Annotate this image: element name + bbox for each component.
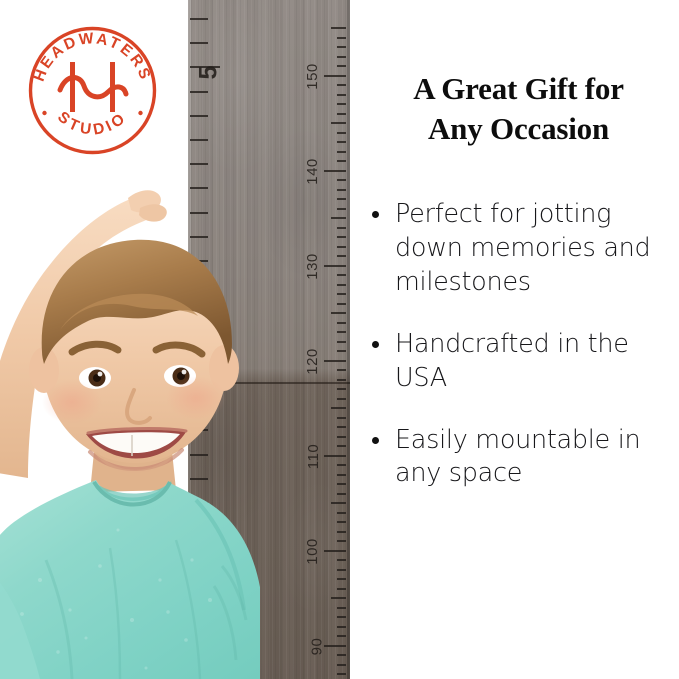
metric-minor-tick	[331, 122, 346, 124]
scale-label-ft-4: 4	[194, 356, 223, 370]
metric-major-tick	[324, 550, 346, 552]
ruler-right-edge	[347, 0, 350, 679]
imperial-inch-tick	[190, 405, 208, 407]
metric-minor-tick	[337, 284, 346, 286]
imperial-inch-tick	[190, 526, 208, 528]
metric-minor-tick	[337, 198, 346, 200]
metric-minor-tick	[337, 103, 346, 105]
metric-minor-tick	[337, 483, 346, 485]
feature-bullet-text: Easily mountable in any space	[395, 425, 640, 489]
metric-minor-tick	[337, 673, 346, 675]
chin-shadow	[96, 450, 176, 471]
metric-minor-tick	[337, 160, 346, 162]
metric-minor-tick	[337, 388, 346, 390]
imperial-inch-tick	[190, 163, 208, 165]
metric-minor-tick	[331, 502, 346, 504]
feature-bullet-item: Perfect for jotting down memories and mi…	[368, 198, 674, 300]
wood-grain-texture	[188, 0, 350, 679]
plank-seam-line	[188, 382, 350, 384]
metric-minor-tick	[331, 27, 346, 29]
imperial-inch-tick	[190, 18, 208, 20]
feature-bullet-item: Handcrafted in the USA	[368, 328, 674, 396]
metric-major-tick	[324, 360, 346, 362]
metric-minor-tick	[331, 217, 346, 219]
metric-minor-tick	[337, 274, 346, 276]
hand-knuckles	[139, 204, 167, 221]
metric-minor-tick	[337, 189, 346, 191]
imperial-inch-tick	[190, 115, 208, 117]
feature-bullet-list: Perfect for jotting down memories and mi…	[368, 198, 674, 519]
raised-arm	[0, 195, 158, 478]
metric-minor-tick	[337, 379, 346, 381]
nose	[127, 390, 150, 423]
metric-minor-tick	[337, 369, 346, 371]
metric-minor-tick	[337, 113, 346, 115]
imperial-inch-tick	[190, 575, 208, 577]
metric-major-tick	[324, 455, 346, 457]
metric-minor-tick	[337, 474, 346, 476]
scale-label-cm-120: 120	[304, 348, 321, 375]
headline: A Great Gift for Any Occasion	[366, 69, 671, 150]
metric-minor-tick	[337, 236, 346, 238]
metric-minor-tick	[331, 597, 346, 599]
bullet-dot-icon	[372, 211, 379, 218]
logo-dot-right	[138, 111, 142, 115]
scale-label-cm-90: 90	[309, 638, 326, 656]
metric-minor-tick	[337, 635, 346, 637]
metric-minor-tick	[337, 464, 346, 466]
metric-minor-tick	[337, 426, 346, 428]
headline-line-1: A Great Gift for	[413, 71, 624, 106]
feature-bullet-text: Perfect for jotting down memories and mi…	[395, 199, 650, 297]
mouth	[86, 430, 186, 459]
metric-minor-tick	[337, 303, 346, 305]
metric-minor-tick	[337, 65, 346, 67]
growth-chart-ruler: 150 140 130 120 110 100 90 5 4	[188, 0, 350, 679]
metric-minor-tick	[337, 607, 346, 609]
imperial-inch-tick	[190, 550, 208, 552]
feature-bullet-item: Easily mountable in any space	[368, 424, 674, 492]
metric-minor-tick	[337, 559, 346, 561]
metric-minor-tick	[337, 331, 346, 333]
metric-minor-tick	[337, 398, 346, 400]
imperial-inch-tick	[190, 284, 208, 286]
metric-minor-tick	[337, 132, 346, 134]
scale-label-cm-140: 140	[304, 158, 321, 185]
imperial-inch-tick	[190, 42, 208, 44]
metric-minor-tick	[337, 246, 346, 248]
imperial-inch-tick	[190, 478, 208, 480]
metric-minor-tick	[337, 293, 346, 295]
pupil-right	[177, 372, 185, 380]
sleeve-left	[0, 556, 40, 679]
eye-glint-right	[182, 370, 187, 375]
metric-minor-tick	[337, 56, 346, 58]
bullet-dot-icon	[372, 437, 379, 444]
metric-minor-tick	[337, 208, 346, 210]
metric-minor-tick	[337, 151, 346, 153]
metric-minor-tick	[337, 436, 346, 438]
imperial-inch-tick	[190, 187, 208, 189]
metric-minor-tick	[331, 312, 346, 314]
metric-minor-tick	[337, 141, 346, 143]
shirt-collar	[92, 480, 172, 501]
metric-minor-tick	[337, 569, 346, 571]
bullet-dot-icon	[372, 341, 379, 348]
imperial-inch-tick	[190, 599, 208, 601]
imperial-inch-tick	[190, 671, 208, 673]
ruler-left-edge	[188, 0, 191, 679]
metric-minor-tick	[337, 654, 346, 656]
wood-tone-variation	[188, 0, 350, 679]
imperial-inch-tick	[190, 91, 208, 93]
logo-bottom-text: STUDIO	[54, 108, 131, 138]
metric-minor-tick	[337, 179, 346, 181]
metric-minor-tick	[337, 616, 346, 618]
scale-label-ft-5: 5	[194, 66, 223, 80]
imperial-inch-tick	[190, 381, 208, 383]
imperial-inch-tick	[190, 623, 208, 625]
metric-minor-tick	[337, 521, 346, 523]
logo-wave	[60, 77, 126, 96]
metric-minor-tick	[337, 531, 346, 533]
feature-bullet-text: Handcrafted in the USA	[395, 329, 629, 393]
headwaters-studio-logo: HEADWATERS STUDIO	[20, 18, 165, 163]
metric-minor-tick	[337, 84, 346, 86]
metric-minor-tick	[337, 46, 346, 48]
eyebrow-left	[72, 344, 118, 352]
ear-left	[29, 347, 59, 393]
scale-label-cm-100: 100	[304, 538, 321, 565]
iris-right	[173, 368, 190, 385]
collar-seam	[94, 482, 170, 505]
metric-minor-tick	[337, 578, 346, 580]
metric-minor-tick	[337, 322, 346, 324]
metric-major-tick	[324, 75, 346, 77]
logo-dot-left	[42, 111, 46, 115]
imperial-inch-tick	[190, 236, 208, 238]
imperial-inch-tick	[190, 308, 208, 310]
metric-minor-tick	[337, 94, 346, 96]
metric-minor-tick	[337, 341, 346, 343]
metric-major-tick	[324, 170, 346, 172]
metric-minor-tick	[337, 512, 346, 514]
pupil-left	[93, 374, 101, 382]
hand-fingers	[128, 190, 161, 212]
headline-line-2: Any Occasion	[428, 111, 609, 146]
scale-label-cm-150: 150	[304, 63, 321, 90]
upper-lip	[88, 429, 186, 433]
imperial-inch-tick	[190, 260, 208, 262]
imperial-inch-tick	[190, 429, 208, 431]
eye-glint-left	[98, 372, 103, 377]
eye-white-left	[79, 367, 111, 389]
marketing-copy-panel: A Great Gift for Any Occasion Perfect fo…	[352, 0, 679, 679]
imperial-inch-tick	[190, 502, 208, 504]
metric-minor-tick	[337, 588, 346, 590]
metric-minor-tick	[337, 417, 346, 419]
imperial-inch-tick	[190, 212, 208, 214]
cheek-left	[42, 380, 102, 424]
metric-minor-tick	[337, 37, 346, 39]
metric-minor-tick	[331, 407, 346, 409]
metric-minor-tick	[337, 493, 346, 495]
neck	[90, 432, 176, 492]
metric-minor-tick	[337, 540, 346, 542]
teeth	[92, 432, 180, 453]
hair-highlight	[60, 294, 198, 330]
metric-major-tick	[324, 645, 346, 647]
metric-minor-tick	[337, 664, 346, 666]
metric-major-tick	[324, 265, 346, 267]
scale-label-cm-130: 130	[304, 253, 321, 280]
iris-left	[89, 370, 106, 387]
metric-minor-tick	[337, 350, 346, 352]
scale-label-cm-110: 110	[305, 444, 322, 469]
imperial-inch-tick	[190, 333, 208, 335]
imperial-inch-tick	[190, 139, 208, 141]
metric-minor-tick	[337, 626, 346, 628]
logo-monogram-h	[60, 62, 126, 112]
metric-minor-tick	[337, 227, 346, 229]
lower-lip	[90, 450, 182, 469]
product-feature-image: 150 140 130 120 110 100 90 5 4	[0, 0, 679, 679]
imperial-foot-tick	[190, 647, 220, 649]
logo-top-text: HEADWATERS	[31, 30, 154, 84]
metric-minor-tick	[337, 445, 346, 447]
metric-minor-tick	[337, 255, 346, 257]
imperial-inch-tick	[190, 454, 208, 456]
shirt-heather-texture	[20, 529, 212, 670]
